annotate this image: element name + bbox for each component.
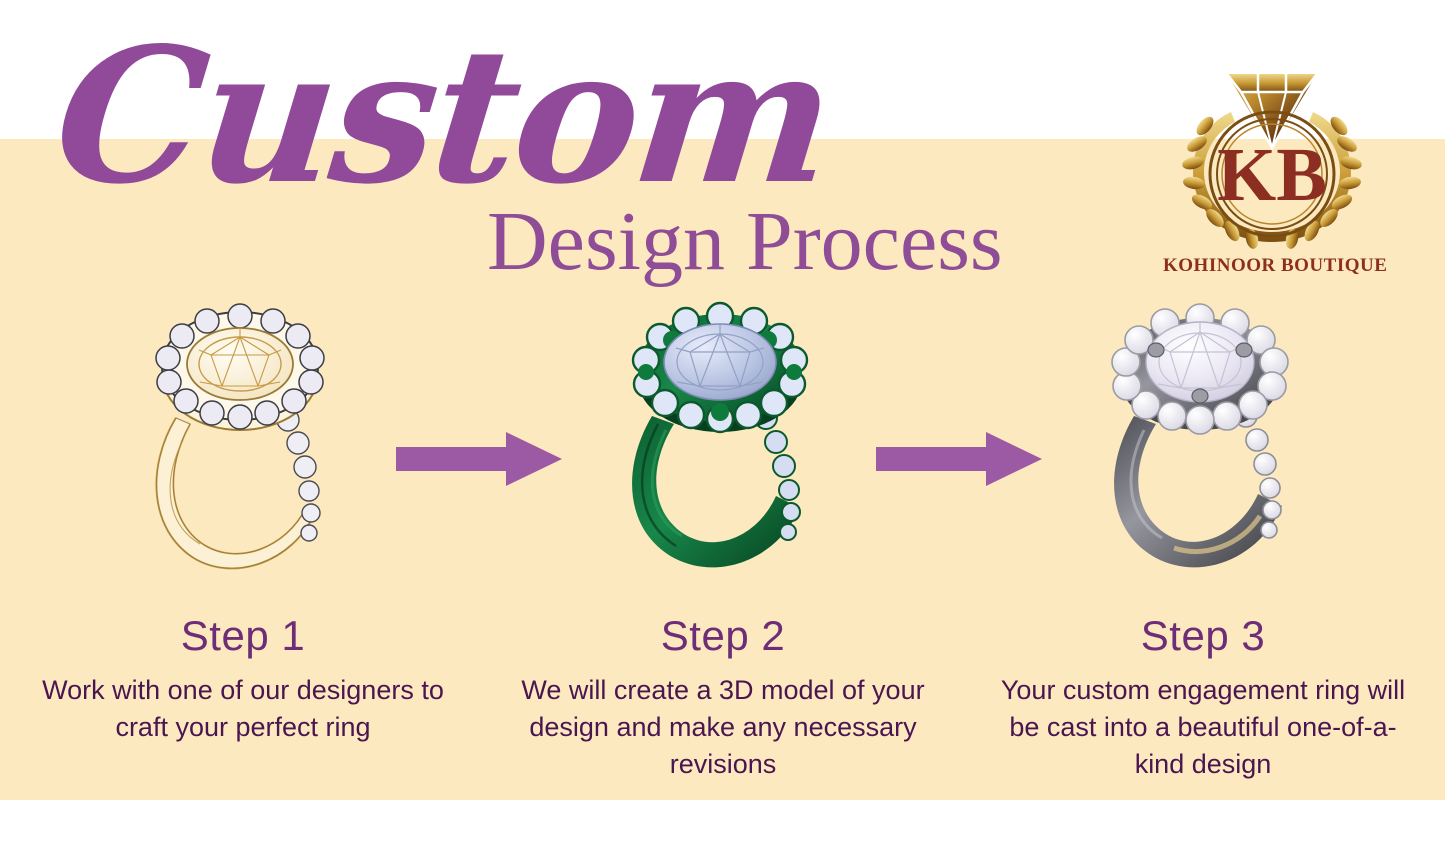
step-2-title: Step 2 [488,612,958,660]
ring-sketch-icon [128,300,358,575]
logo-monogram: KB [1217,133,1327,217]
brand-logo: KB KOHINOOR BOUTIQUE [1163,52,1381,287]
step-2-image [488,300,958,590]
step-3-title: Step 3 [968,612,1438,660]
step-3-image [968,300,1438,590]
step-1-description: Work with one of our designers to craft … [8,672,478,746]
step-column-3: Step 3 Your custom engagement ring will … [968,300,1438,783]
step-2-description: We will create a 3D model of your design… [488,672,958,783]
step-column-1: Step 1 Work with one of our designers to… [8,300,478,746]
step-3-description: Your custom engagement ring will be cast… [968,672,1438,783]
page-subtitle: Design Process [487,196,1003,288]
step-column-2: Step 2 We will create a 3D model of your… [488,300,958,783]
ring-3d-model-icon [608,300,838,575]
brand-name-text: KOHINOOR BOUTIQUE [1163,255,1381,277]
step-1-title: Step 1 [8,612,478,660]
ring-finished-icon [1088,300,1318,575]
custom-design-process-poster: Custom Design Process [0,0,1445,849]
step-1-image [8,300,478,590]
logo-mark-graphic: KB [1163,52,1381,252]
page-title-script: Custom [47,8,710,223]
